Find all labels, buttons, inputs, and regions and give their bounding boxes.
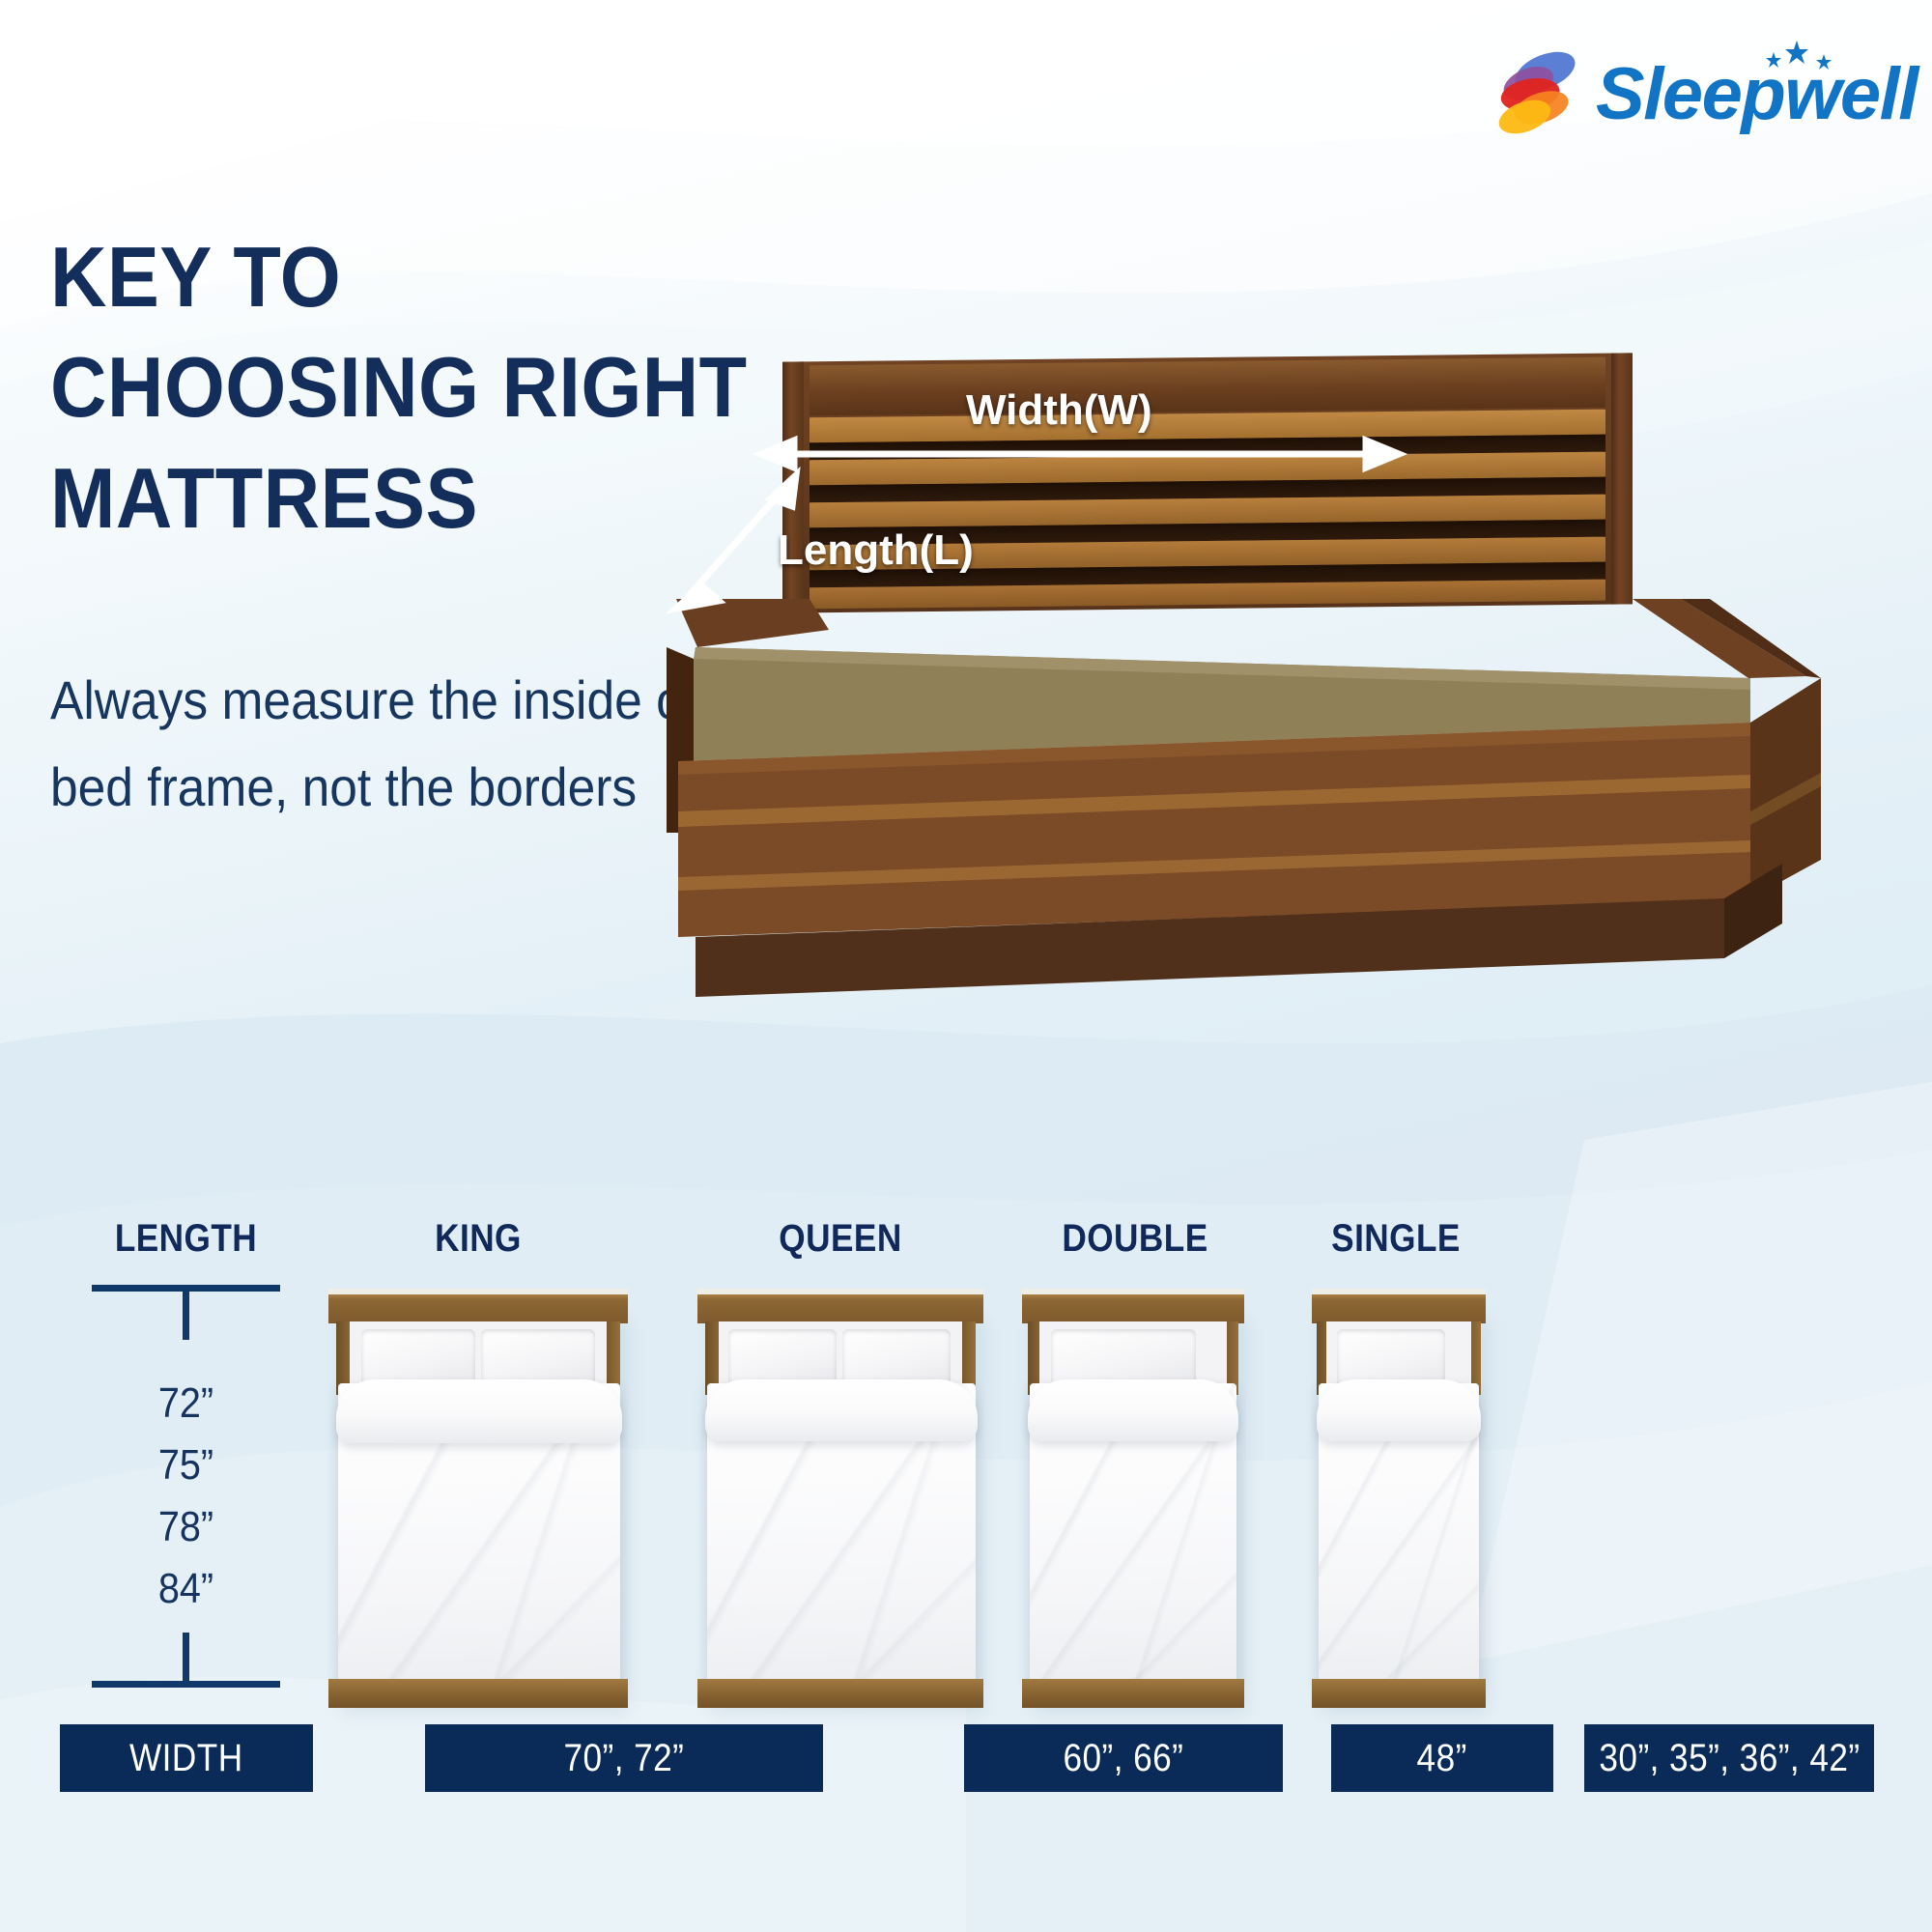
width-value-single: 30”, 35”, 36”, 42” <box>1584 1724 1874 1792</box>
size-chart: LENGTH 72” 75” 78” 84” KING QUEEN <box>0 1188 1932 1864</box>
width-value-queen: 60”, 66” <box>964 1724 1283 1792</box>
length-value: 72” <box>101 1379 271 1428</box>
logo-wordmark: Sleepwell <box>1596 52 1918 136</box>
row-header-width: WIDTH <box>60 1724 313 1792</box>
width-value-king-label: 70”, 72” <box>564 1737 685 1780</box>
column-header-double: DOUBLE <box>1029 1217 1241 1261</box>
hero-bed-illustration: Width(W) Length(L) <box>782 357 1932 995</box>
width-value-king: 70”, 72” <box>425 1724 823 1792</box>
column-header-queen: QUEEN <box>713 1217 968 1261</box>
width-value-single-label: 30”, 35”, 36”, 42” <box>1599 1737 1860 1780</box>
bed-illustration-king <box>328 1294 628 1719</box>
width-dimension-label: Width(W) <box>966 386 1152 435</box>
brand-logo: Sleepwell <box>1488 39 1893 145</box>
bed-headboard <box>1022 1294 1244 1323</box>
duvet-fold <box>336 1379 622 1443</box>
bed-footboard <box>328 1679 628 1708</box>
width-value-queen-label: 60”, 66” <box>1064 1737 1184 1780</box>
bed-headboard <box>697 1294 983 1323</box>
length-top-tick <box>183 1290 189 1340</box>
length-bottom-tick <box>183 1633 189 1683</box>
column-header-single: SINGLE <box>1290 1217 1502 1261</box>
bed-footboard <box>697 1679 983 1708</box>
length-value: 75” <box>101 1441 271 1490</box>
length-bottom-cap <box>92 1681 280 1688</box>
bed-illustration-single <box>1312 1294 1486 1719</box>
duvet-fold <box>1317 1379 1481 1441</box>
width-value-double-label: 48” <box>1417 1737 1467 1780</box>
length-value: 84” <box>101 1565 271 1613</box>
row-header-width-label: WIDTH <box>129 1737 243 1780</box>
duvet-fold <box>705 1379 978 1441</box>
duvet-fold <box>1028 1379 1238 1441</box>
width-value-double: 48” <box>1331 1724 1553 1792</box>
bed-illustration-queen <box>697 1294 983 1719</box>
row-header-length: LENGTH <box>95 1217 277 1261</box>
length-value: 78” <box>101 1503 271 1551</box>
headline-line-1: KEY TO <box>50 222 867 332</box>
headline-line-2: CHOOSING RIGHT <box>50 332 867 442</box>
bed-illustration-double <box>1022 1294 1244 1719</box>
bed-headboard <box>1312 1294 1486 1323</box>
bed-footboard <box>1312 1679 1486 1708</box>
length-dimension-label: Length(L) <box>778 526 974 575</box>
column-header-king: KING <box>347 1217 611 1261</box>
bed-headboard <box>328 1294 628 1323</box>
sleepwell-s-icon <box>1488 46 1580 139</box>
bed-footboard <box>1022 1679 1244 1708</box>
bed-frame-perspective <box>782 357 1932 995</box>
